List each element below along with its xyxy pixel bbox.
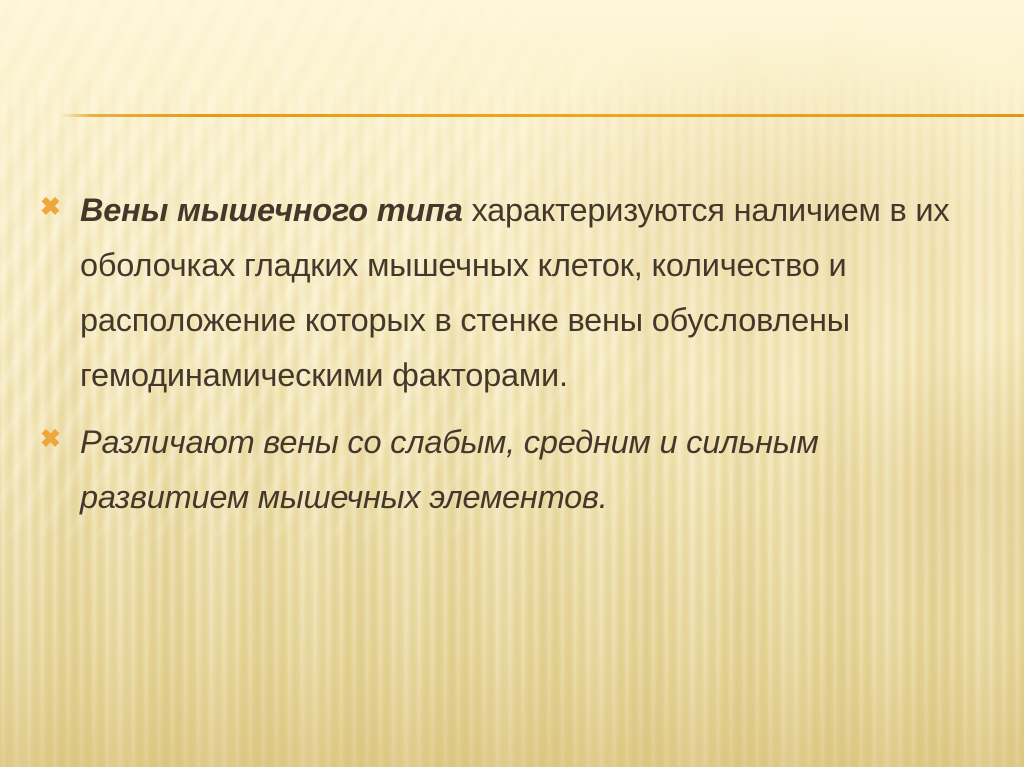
cross-bullet-icon: ✖ xyxy=(40,195,72,220)
list-item: ✖ Различают вены со слабым, средним и си… xyxy=(40,415,984,525)
bullet-body-text: Различают вены со слабым, средним и силь… xyxy=(80,424,819,515)
cross-bullet-icon: ✖ xyxy=(40,427,72,452)
list-item: ✖ Вены мышечного типа характеризуются на… xyxy=(40,183,984,403)
bullet-paragraph-2: Различают вены со слабым, средним и силь… xyxy=(80,415,984,525)
slide-body: ✖ Вены мышечного типа характеризуются на… xyxy=(40,183,984,525)
bullet-lead-term: Вены мышечного типа xyxy=(80,192,463,228)
bullet-paragraph-1: Вены мышечного типа характеризуются нали… xyxy=(80,183,984,403)
presentation-slide: ✖ Вены мышечного типа характеризуются на… xyxy=(0,0,1024,767)
title-divider-rule xyxy=(62,114,1024,117)
